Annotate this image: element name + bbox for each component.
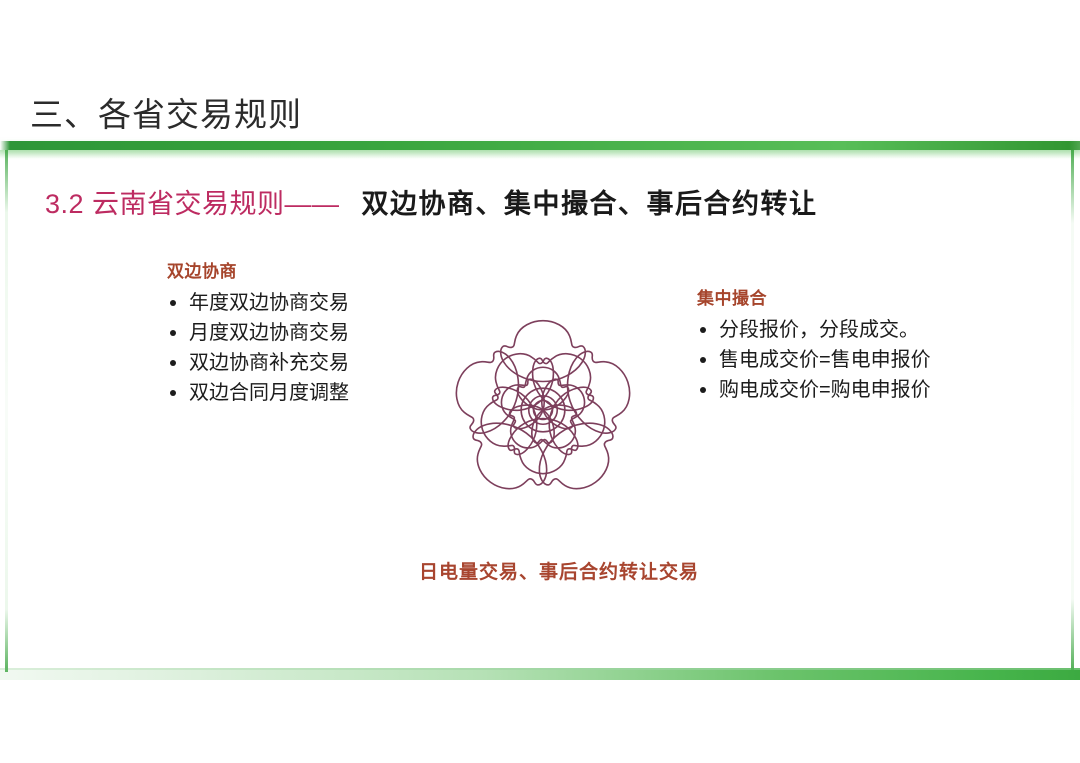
list-item: 双边协商补充交易: [167, 348, 349, 378]
list-item: 购电成交价=购电申报价: [697, 375, 931, 405]
left-bullet-list: 年度双边协商交易 月度双边协商交易 双边协商补充交易 双边合同月度调整: [167, 288, 349, 408]
left-content-column: 双边协商 年度双边协商交易 月度双边协商交易 双边协商补充交易 双边合同月度调整: [167, 257, 349, 408]
slide-canvas: 三、各省交易规则 3.2 云南省交易规则—— 双边协商、集中撮合、事后合约转让 …: [0, 0, 1080, 763]
list-item: 双边合同月度调整: [167, 378, 349, 408]
list-item: 年度双边协商交易: [167, 288, 349, 318]
subtitle-main: 双边协商、集中撮合、事后合约转让: [362, 182, 818, 221]
bullet-dot-icon: [700, 387, 706, 393]
bullet-dot-icon: [700, 327, 706, 333]
bullet-dot-icon: [170, 300, 176, 306]
subtitle-prefix: 3.2 云南省交易规则——: [45, 182, 340, 221]
list-item-label: 月度双边协商交易: [189, 322, 349, 344]
list-item-label: 购电成交价=购电申报价: [719, 379, 931, 401]
bullet-dot-icon: [170, 360, 176, 366]
top-green-rule-glow: [0, 150, 1080, 159]
right-content-column: 集中撮合 分段报价，分段成交。 售电成交价=售电申报价 购电成交价=购电申报价: [697, 284, 931, 405]
list-item-label: 分段报价，分段成交。: [719, 319, 919, 341]
camellia-flower-icon: [448, 312, 638, 508]
bottom-green-rule: [0, 670, 1080, 680]
right-column-heading: 集中撮合: [697, 284, 931, 309]
top-green-rule: [0, 141, 1080, 150]
list-item: 分段报价，分段成交。: [697, 315, 931, 345]
left-green-edge: [5, 150, 8, 672]
list-item-label: 双边协商补充交易: [189, 352, 349, 374]
list-item-label: 双边合同月度调整: [189, 382, 349, 404]
bullet-dot-icon: [700, 357, 706, 363]
right-bullet-list: 分段报价，分段成交。 售电成交价=售电申报价 购电成交价=购电申报价: [697, 315, 931, 405]
list-item: 售电成交价=售电申报价: [697, 345, 931, 375]
bullet-dot-icon: [170, 330, 176, 336]
list-item-label: 年度双边协商交易: [189, 292, 349, 314]
bullet-dot-icon: [170, 390, 176, 396]
left-column-heading: 双边协商: [167, 257, 349, 282]
list-item-label: 售电成交价=售电申报价: [719, 349, 931, 371]
subtitle: 3.2 云南省交易规则—— 双边协商、集中撮合、事后合约转让: [45, 182, 818, 221]
right-green-edge: [1071, 150, 1074, 672]
page-title: 三、各省交易规则: [30, 88, 302, 136]
graphic-caption: 日电量交易、事后合约转让交易: [419, 557, 699, 584]
list-item: 月度双边协商交易: [167, 318, 349, 348]
